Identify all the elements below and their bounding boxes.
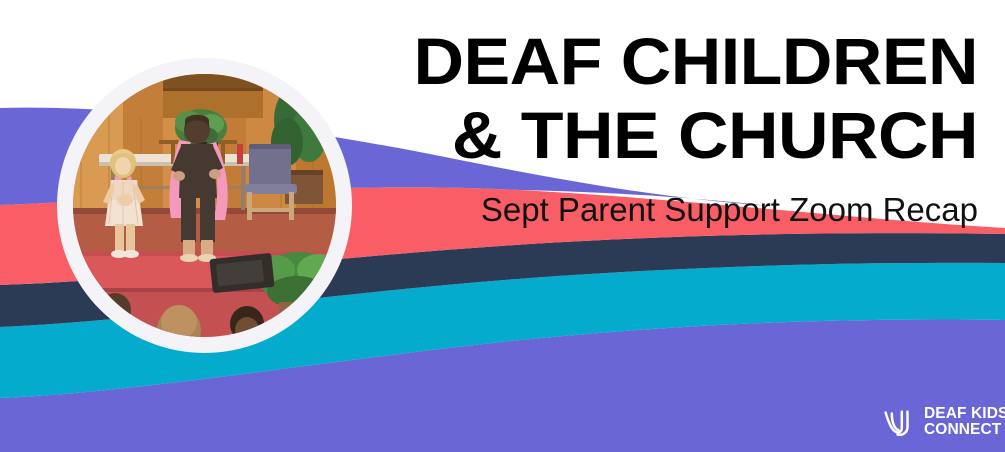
promotional-banner: DEAF CHILDREN & THE CHURCH Sept Parent S… [0, 0, 1005, 452]
title-line-2: & THE CHURCH [342, 98, 978, 172]
logo-word-line-2: CONNECT [924, 422, 1005, 438]
logo-wordmark: DEAF KIDS CONNECT [924, 406, 1005, 438]
photo-clip [73, 74, 336, 337]
headline-block: DEAF CHILDREN & THE CHURCH Sept Parent S… [378, 24, 978, 230]
circular-photo-badge [57, 58, 352, 353]
title-line-1: DEAF CHILDREN [342, 24, 978, 98]
deaf-kids-connect-spiral-icon [879, 403, 917, 441]
church-stage-photo [73, 74, 336, 337]
subtitle: Sept Parent Support Zoom Recap [378, 190, 978, 230]
logo-word-line-1: DEAF KIDS [924, 406, 1005, 422]
deaf-kids-connect-logo: DEAF KIDS CONNECT [879, 401, 994, 443]
